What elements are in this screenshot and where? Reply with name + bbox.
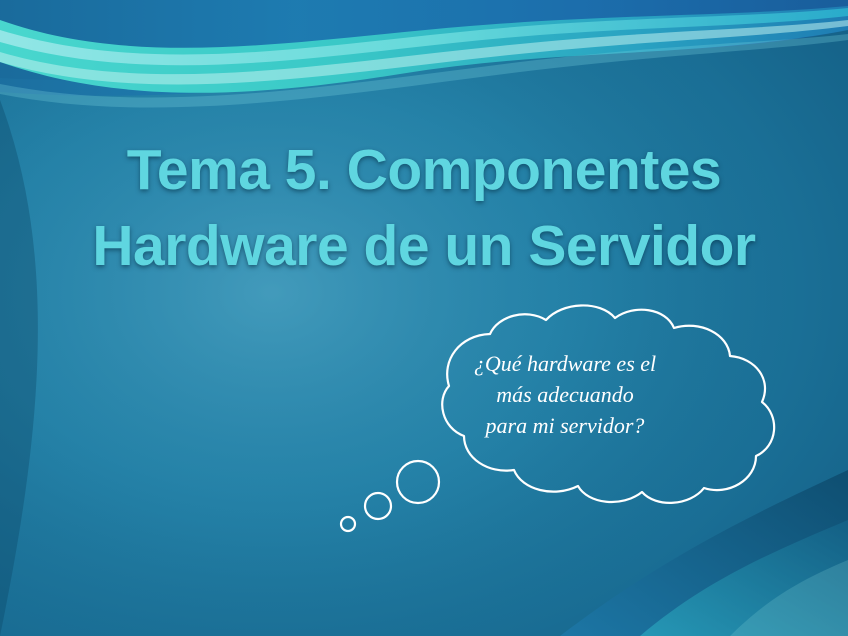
title-line-1: Tema 5. Componentes [0,132,848,208]
bubble-line-2: más adecuando [420,379,710,410]
bubble-line-3: para mi servidor? [420,410,710,441]
thought-bubble: ¿Qué hardware es el más adecuando para m… [300,300,820,540]
presentation-slide: Tema 5. Componentes Hardware de un Servi… [0,0,848,636]
page-title: Tema 5. Componentes Hardware de un Servi… [0,132,848,284]
bubble-line-1: ¿Qué hardware es el [420,348,710,379]
thought-bubble-text: ¿Qué hardware es el más adecuando para m… [420,348,710,441]
title-line-2: Hardware de un Servidor [0,208,848,284]
